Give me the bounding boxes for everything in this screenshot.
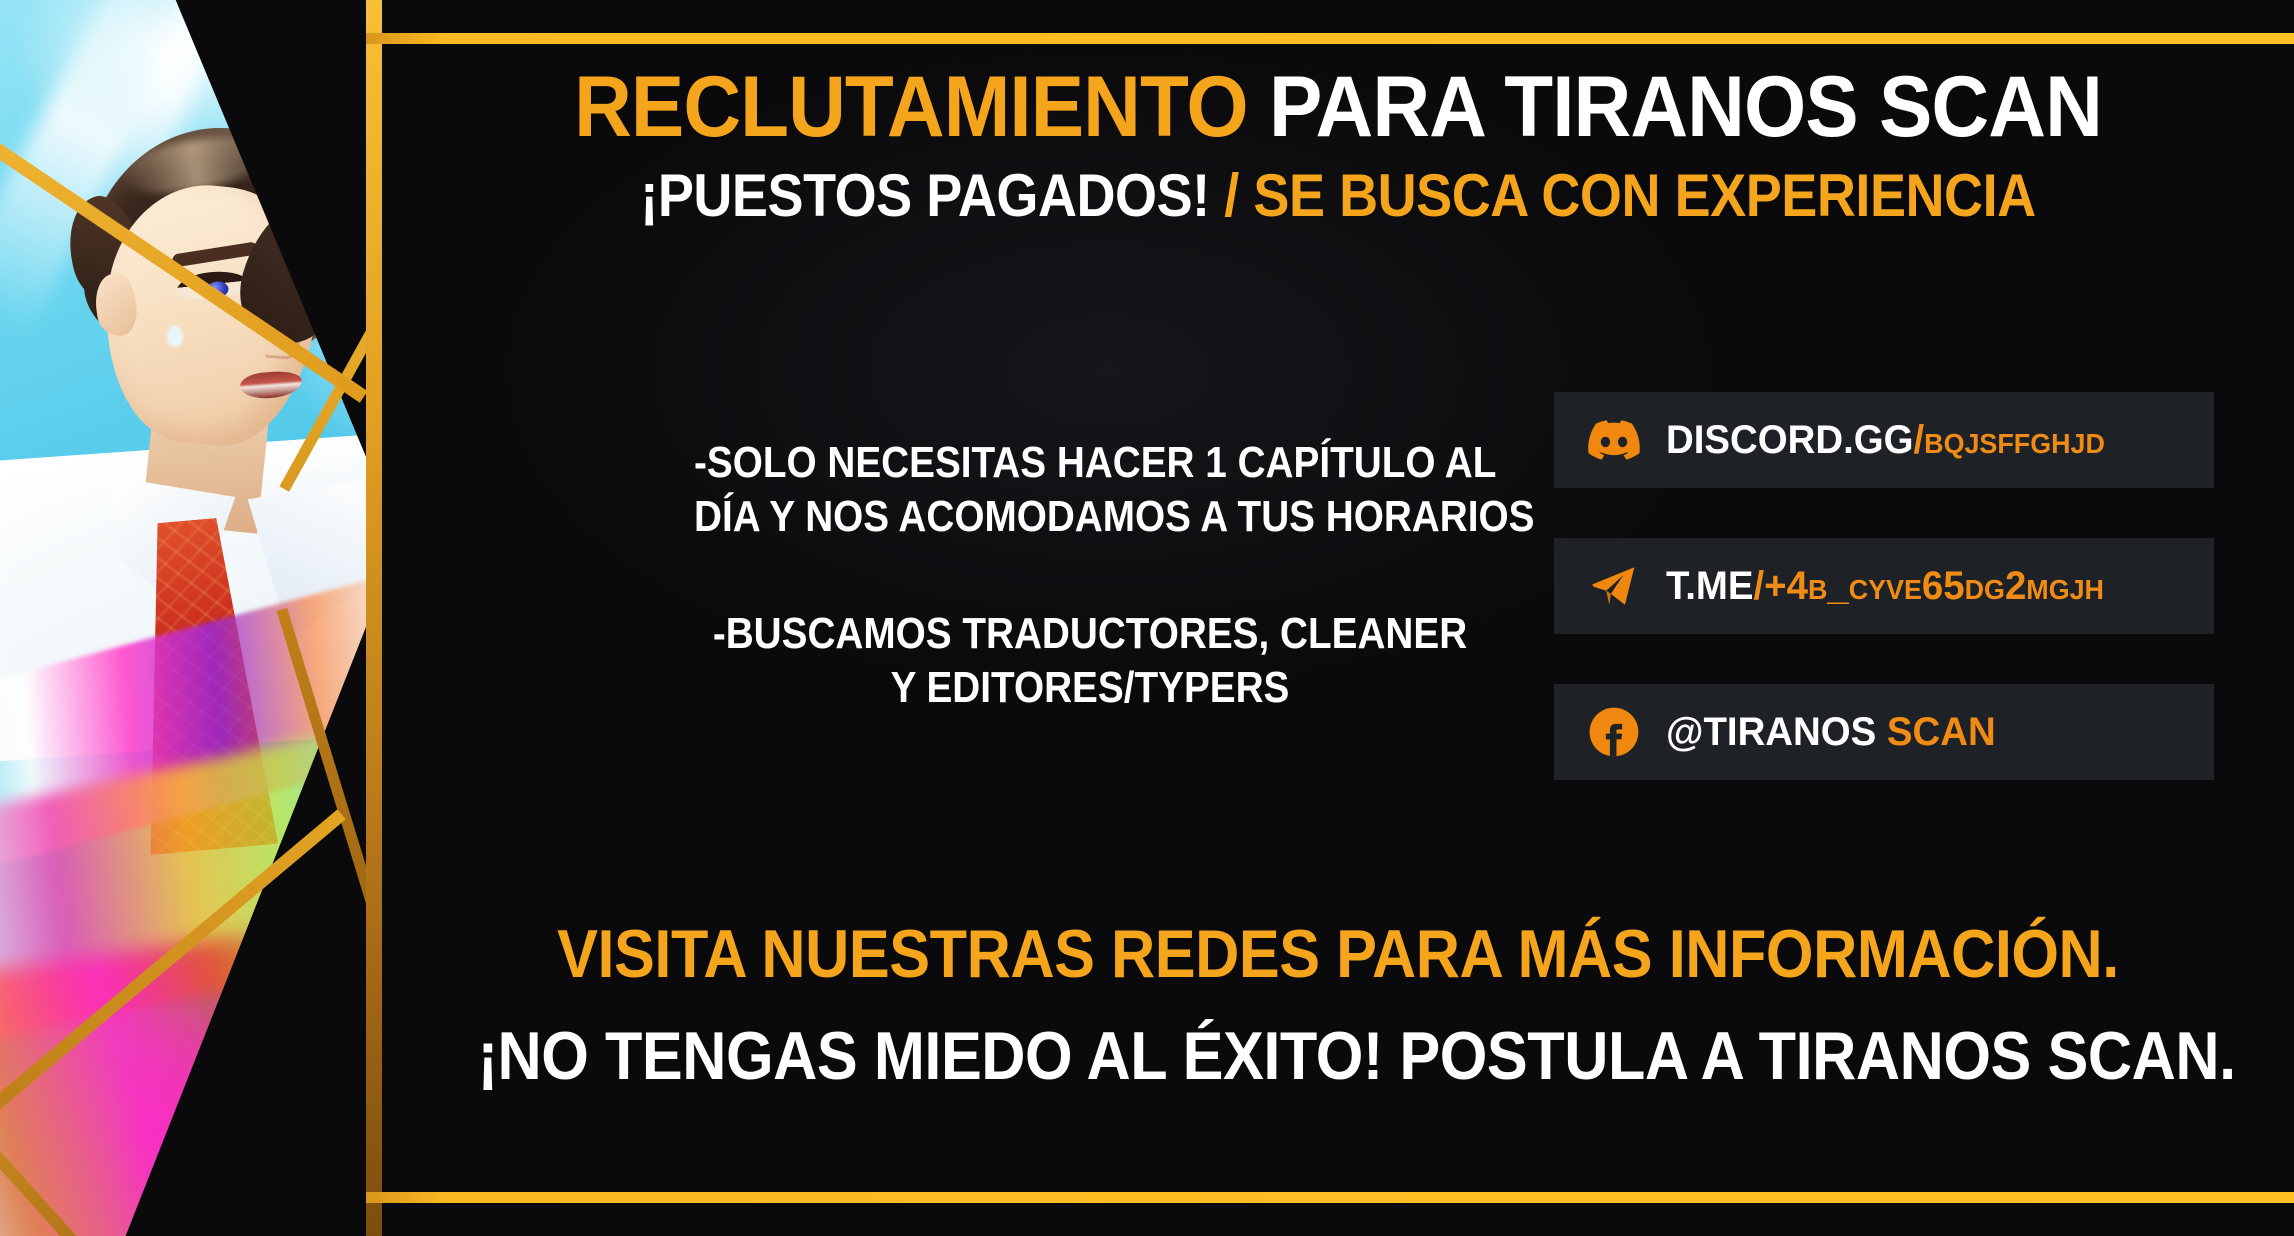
contact-card-discord[interactable]: DISCORD.GG/bQJsFFgHJd [1554, 392, 2214, 488]
contact-text-telegram: T.ME/+4B_CyVe65DG2MGJH [1666, 564, 2104, 609]
discord-icon [1588, 414, 1640, 466]
character-artwork [0, 0, 420, 1236]
facebook-prefix: @TIRANOS [1666, 710, 1876, 754]
subtitle-gold: / SE BUSCA CON EXPERIENCIA [1224, 162, 2035, 229]
telegram-separator: / [1753, 564, 1764, 608]
title-rest: PARA TIRANOS SCAN [1269, 59, 2102, 155]
contact-text-facebook: @TIRANOS SCAN [1666, 710, 1996, 755]
cta-block-primary: VISITA NUESTRAS REDES PARA MÁS INFORMACI… [382, 920, 2294, 988]
telegram-code: +4B_CyVe65DG2MGJH [1764, 564, 2104, 608]
gold-rule-bottom [366, 1192, 2294, 1203]
facebook-icon [1588, 706, 1640, 758]
contact-card-facebook[interactable]: @TIRANOS SCAN [1554, 684, 2214, 780]
requirements-list: -SOLO NECESITAS HACER 1 CAPÍTULO AL DÍA … [640, 436, 1540, 715]
telegram-prefix: T.ME [1666, 564, 1753, 608]
title-highlight: RECLUTAMIENTO [574, 59, 1248, 155]
recruitment-banner: RECLUTAMIENTO PARA TIRANOS SCAN ¡PUESTOS… [0, 0, 2294, 1236]
requirement-line: DÍA Y NOS ACOMODAMOS A TUS HORARIOS [694, 490, 1486, 544]
sweat-drop [168, 326, 182, 346]
contact-list: DISCORD.GG/bQJsFFgHJd T.ME/+4B_CyVe65DG2… [1554, 392, 2214, 780]
contact-text-discord: DISCORD.GG/bQJsFFgHJd [1666, 418, 2105, 463]
title-block: RECLUTAMIENTO PARA TIRANOS SCAN ¡PUESTOS… [382, 64, 2294, 226]
contact-card-telegram[interactable]: T.ME/+4B_CyVe65DG2MGJH [1554, 538, 2214, 634]
requirement-item: -BUSCAMOS TRADUCTORES, CLEANER Y EDITORE… [640, 607, 1540, 714]
discord-separator: / [1913, 418, 1924, 462]
subtitle-white: ¡PUESTOS PAGADOS! [640, 162, 1209, 229]
facebook-separator [1876, 710, 1887, 754]
gold-vertical-divider [366, 0, 382, 1236]
gold-rule-top [366, 33, 2294, 44]
page-subtitle: ¡PUESTOS PAGADOS! / SE BUSCA CON EXPERIE… [478, 166, 2199, 226]
requirement-line: -BUSCAMOS TRADUCTORES, CLEANER [694, 607, 1486, 661]
facebook-code: SCAN [1887, 710, 1996, 754]
page-title: RECLUTAMIENTO PARA TIRANOS SCAN [449, 64, 2227, 150]
cta-line-1: VISITA NUESTRAS REDES PARA MÁS INFORMACI… [478, 920, 2199, 988]
requirement-line: -SOLO NECESITAS HACER 1 CAPÍTULO AL [694, 436, 1486, 490]
requirement-line: Y EDITORES/TYPERS [694, 661, 1486, 715]
discord-prefix: DISCORD.GG [1666, 418, 1913, 462]
cta-line-2: ¡NO TENGAS MIEDO AL ÉXITO! POSTULA A TIR… [478, 1022, 2199, 1090]
cta-block-secondary: ¡NO TENGAS MIEDO AL ÉXITO! POSTULA A TIR… [382, 1022, 2294, 1090]
telegram-icon [1588, 560, 1640, 612]
discord-code: bQJsFFgHJd [1924, 418, 2105, 462]
requirement-item: -SOLO NECESITAS HACER 1 CAPÍTULO AL DÍA … [640, 436, 1540, 543]
